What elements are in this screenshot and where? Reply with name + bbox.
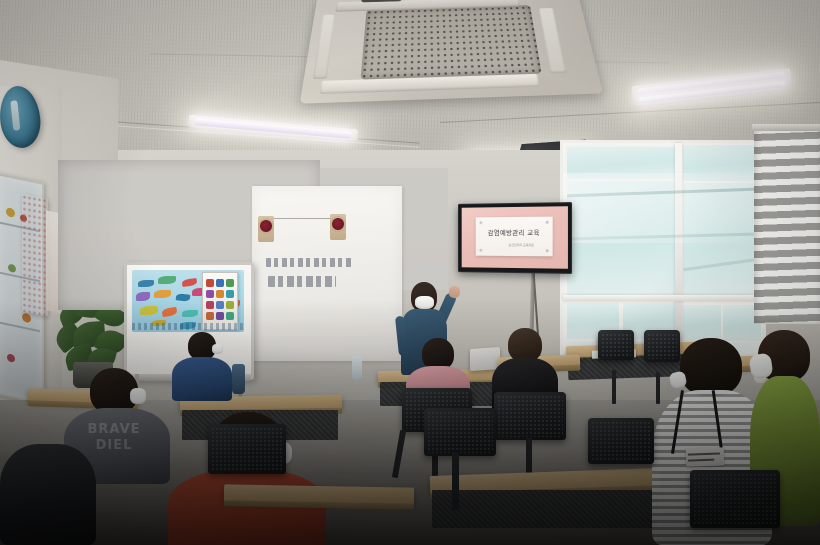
desk-modesty-panel	[432, 490, 658, 528]
flower-decoration	[330, 214, 346, 240]
attendee-torso	[0, 444, 96, 545]
attendee-head	[680, 338, 742, 396]
id-badge	[686, 447, 725, 466]
attendee-blue-tee	[172, 332, 234, 396]
office-chair[interactable]	[494, 392, 566, 440]
air-conditioner-icon	[300, 0, 603, 104]
face-mask-icon	[130, 388, 146, 404]
attendee-torso	[172, 357, 232, 401]
window-blind[interactable]	[754, 128, 820, 324]
classroom-photo: 감염예방관리 교육 보건관리자 교육자료	[0, 0, 820, 545]
attendee-head	[508, 328, 542, 362]
flower-decoration	[258, 216, 274, 242]
poster-caption	[132, 323, 244, 330]
office-chair[interactable]	[588, 418, 654, 464]
window-wall	[560, 140, 766, 361]
blind-headrail	[752, 124, 820, 131]
display-screen: 감염예방관리 교육 보건관리자 교육자료	[462, 206, 568, 269]
face-mask-icon	[415, 296, 434, 309]
whiteboard	[252, 186, 402, 361]
chair-leg	[452, 452, 459, 510]
slide-subtitle: 보건관리자 교육자료	[509, 243, 534, 247]
training-desk	[224, 484, 414, 504]
whiteboard-handwriting-date	[266, 258, 354, 267]
lanyard-strap	[712, 390, 724, 452]
attendee-dark-back-row	[0, 420, 96, 545]
chair-leg	[612, 370, 616, 404]
instructor-hand	[448, 285, 461, 299]
slide-content-box: 감염예방관리 교육 보건관리자 교육자료	[476, 216, 552, 256]
office-chair[interactable]	[208, 424, 286, 474]
office-chair[interactable]	[598, 330, 634, 360]
lanyard-strap	[671, 390, 684, 454]
face-mask-icon	[212, 344, 223, 354]
slide-title: 감염예방관리 교육	[488, 227, 540, 237]
hanging-fabric-craft	[22, 194, 48, 317]
whiteboard-handwriting-title	[268, 276, 336, 287]
water-bottle	[352, 356, 362, 380]
color-chart-sheet	[202, 272, 238, 330]
water-bottle	[232, 364, 245, 394]
office-chair[interactable]	[690, 470, 780, 528]
office-chair[interactable]	[424, 408, 496, 456]
wall-display: 감염예방관리 교육 보건관리자 교육자료	[458, 202, 572, 274]
